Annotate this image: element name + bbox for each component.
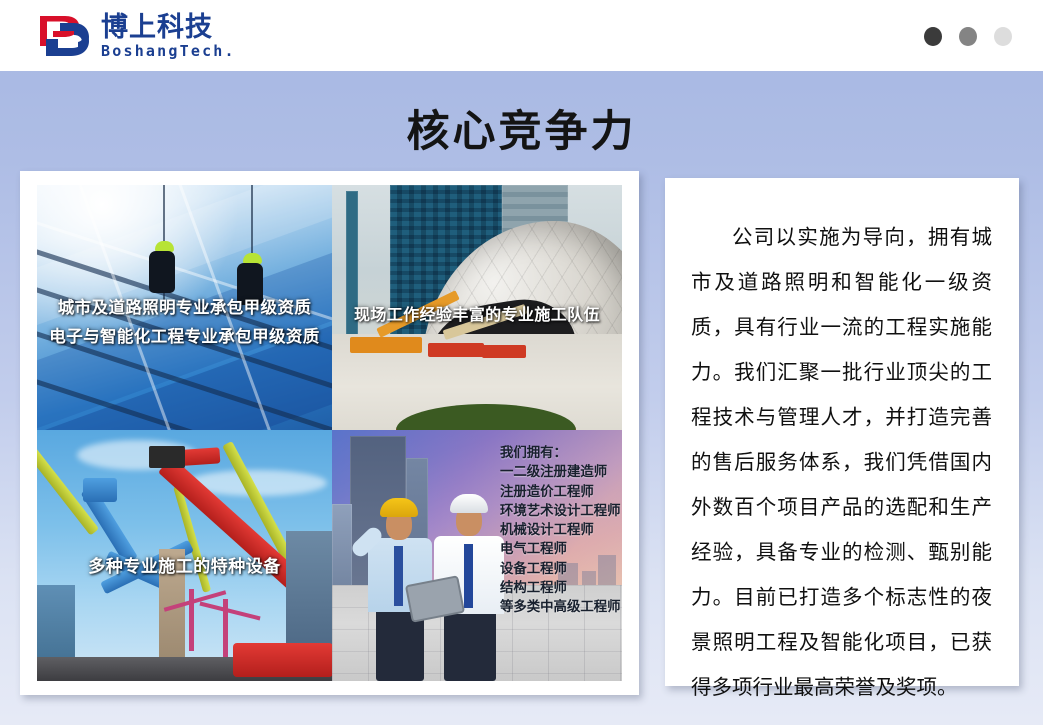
page-header: 博上科技 BoshangTech. [0, 0, 1043, 71]
trousers [444, 606, 496, 681]
dot-light[interactable] [994, 27, 1012, 46]
company-logo[interactable]: 博上科技 BoshangTech. [38, 12, 236, 59]
photo-caption: 多种专业施工的特种设备 [37, 552, 332, 577]
window-dots-group [924, 27, 1012, 46]
boom-lift [428, 343, 484, 357]
credential-item: 设备工程师 [500, 560, 621, 579]
photo-gallery-card: 城市及道路照明专业承包甲级资质 电子与智能化工程专业承包甲级资质 现场工作经验丰… [20, 171, 639, 695]
photo-caption: 电子与智能化工程专业承包甲级资质 [37, 323, 332, 347]
yellow-hard-hat-icon [380, 498, 418, 517]
slide-root: 博上科技 BoshangTech. 核心竞争力 [0, 0, 1043, 725]
credential-item: 机械设计工程师 [500, 521, 621, 540]
photo-glass-facade[interactable]: 城市及道路照明专业承包甲级资质 电子与智能化工程专业承包甲级资质 [37, 185, 332, 430]
credential-item: 电气工程师 [500, 540, 621, 559]
photo-grid: 城市及道路照明专业承包甲级资质 电子与智能化工程专业承包甲级资质 现场工作经验丰… [37, 185, 622, 681]
logo-text-en: BoshangTech. [101, 44, 236, 59]
credential-title: 我们拥有： [500, 444, 621, 463]
boom-lift [350, 337, 422, 353]
lift-basket [149, 446, 185, 468]
lift-chassis [233, 643, 332, 677]
photo-caption: 城市及道路照明专业承包甲级资质 [37, 294, 332, 318]
dot-dark[interactable] [924, 27, 942, 46]
photo-equipment[interactable]: 多种专业施工的特种设备 [37, 430, 332, 681]
white-hard-hat-icon [450, 494, 488, 513]
dot-medium[interactable] [959, 27, 977, 46]
photo-engineers[interactable]: 我们拥有： 一二级注册建造师 注册造价工程师 环境艺术设计工程师 机械设计工程师… [332, 430, 622, 681]
lift-basket [83, 478, 117, 502]
boshang-b-logo-icon [38, 13, 92, 59]
photo-construction-site[interactable]: 现场工作经验丰富的专业施工队伍 [332, 185, 622, 430]
credential-item: 环境艺术设计工程师 [500, 502, 621, 521]
necktie [464, 544, 473, 608]
crane-mast [346, 191, 358, 351]
boom-lift [482, 345, 526, 358]
photo-caption: 现场工作经验丰富的专业施工队伍 [332, 301, 622, 325]
description-card: 公司以实施为导向，拥有城市及道路照明和智能化一级资质，具有行业一流的工程实施能力… [665, 178, 1019, 686]
credential-item: 等多类中高级工程师 [500, 598, 621, 617]
worker-figure [149, 251, 175, 293]
credential-list: 我们拥有： 一二级注册建造师 注册造价工程师 环境艺术设计工程师 机械设计工程师… [500, 444, 621, 618]
page-title: 核心竞争力 [0, 97, 1043, 159]
credential-item: 结构工程师 [500, 579, 621, 598]
crane-jib [199, 602, 260, 621]
logo-text-cn: 博上科技 [101, 14, 236, 41]
credential-item: 一二级注册建造师 [500, 463, 621, 482]
description-text: 公司以实施为导向，拥有城市及道路照明和智能化一级资质，具有行业一流的工程实施能力… [691, 215, 992, 710]
credential-item: 注册造价工程师 [500, 483, 621, 502]
necktie [394, 546, 403, 606]
